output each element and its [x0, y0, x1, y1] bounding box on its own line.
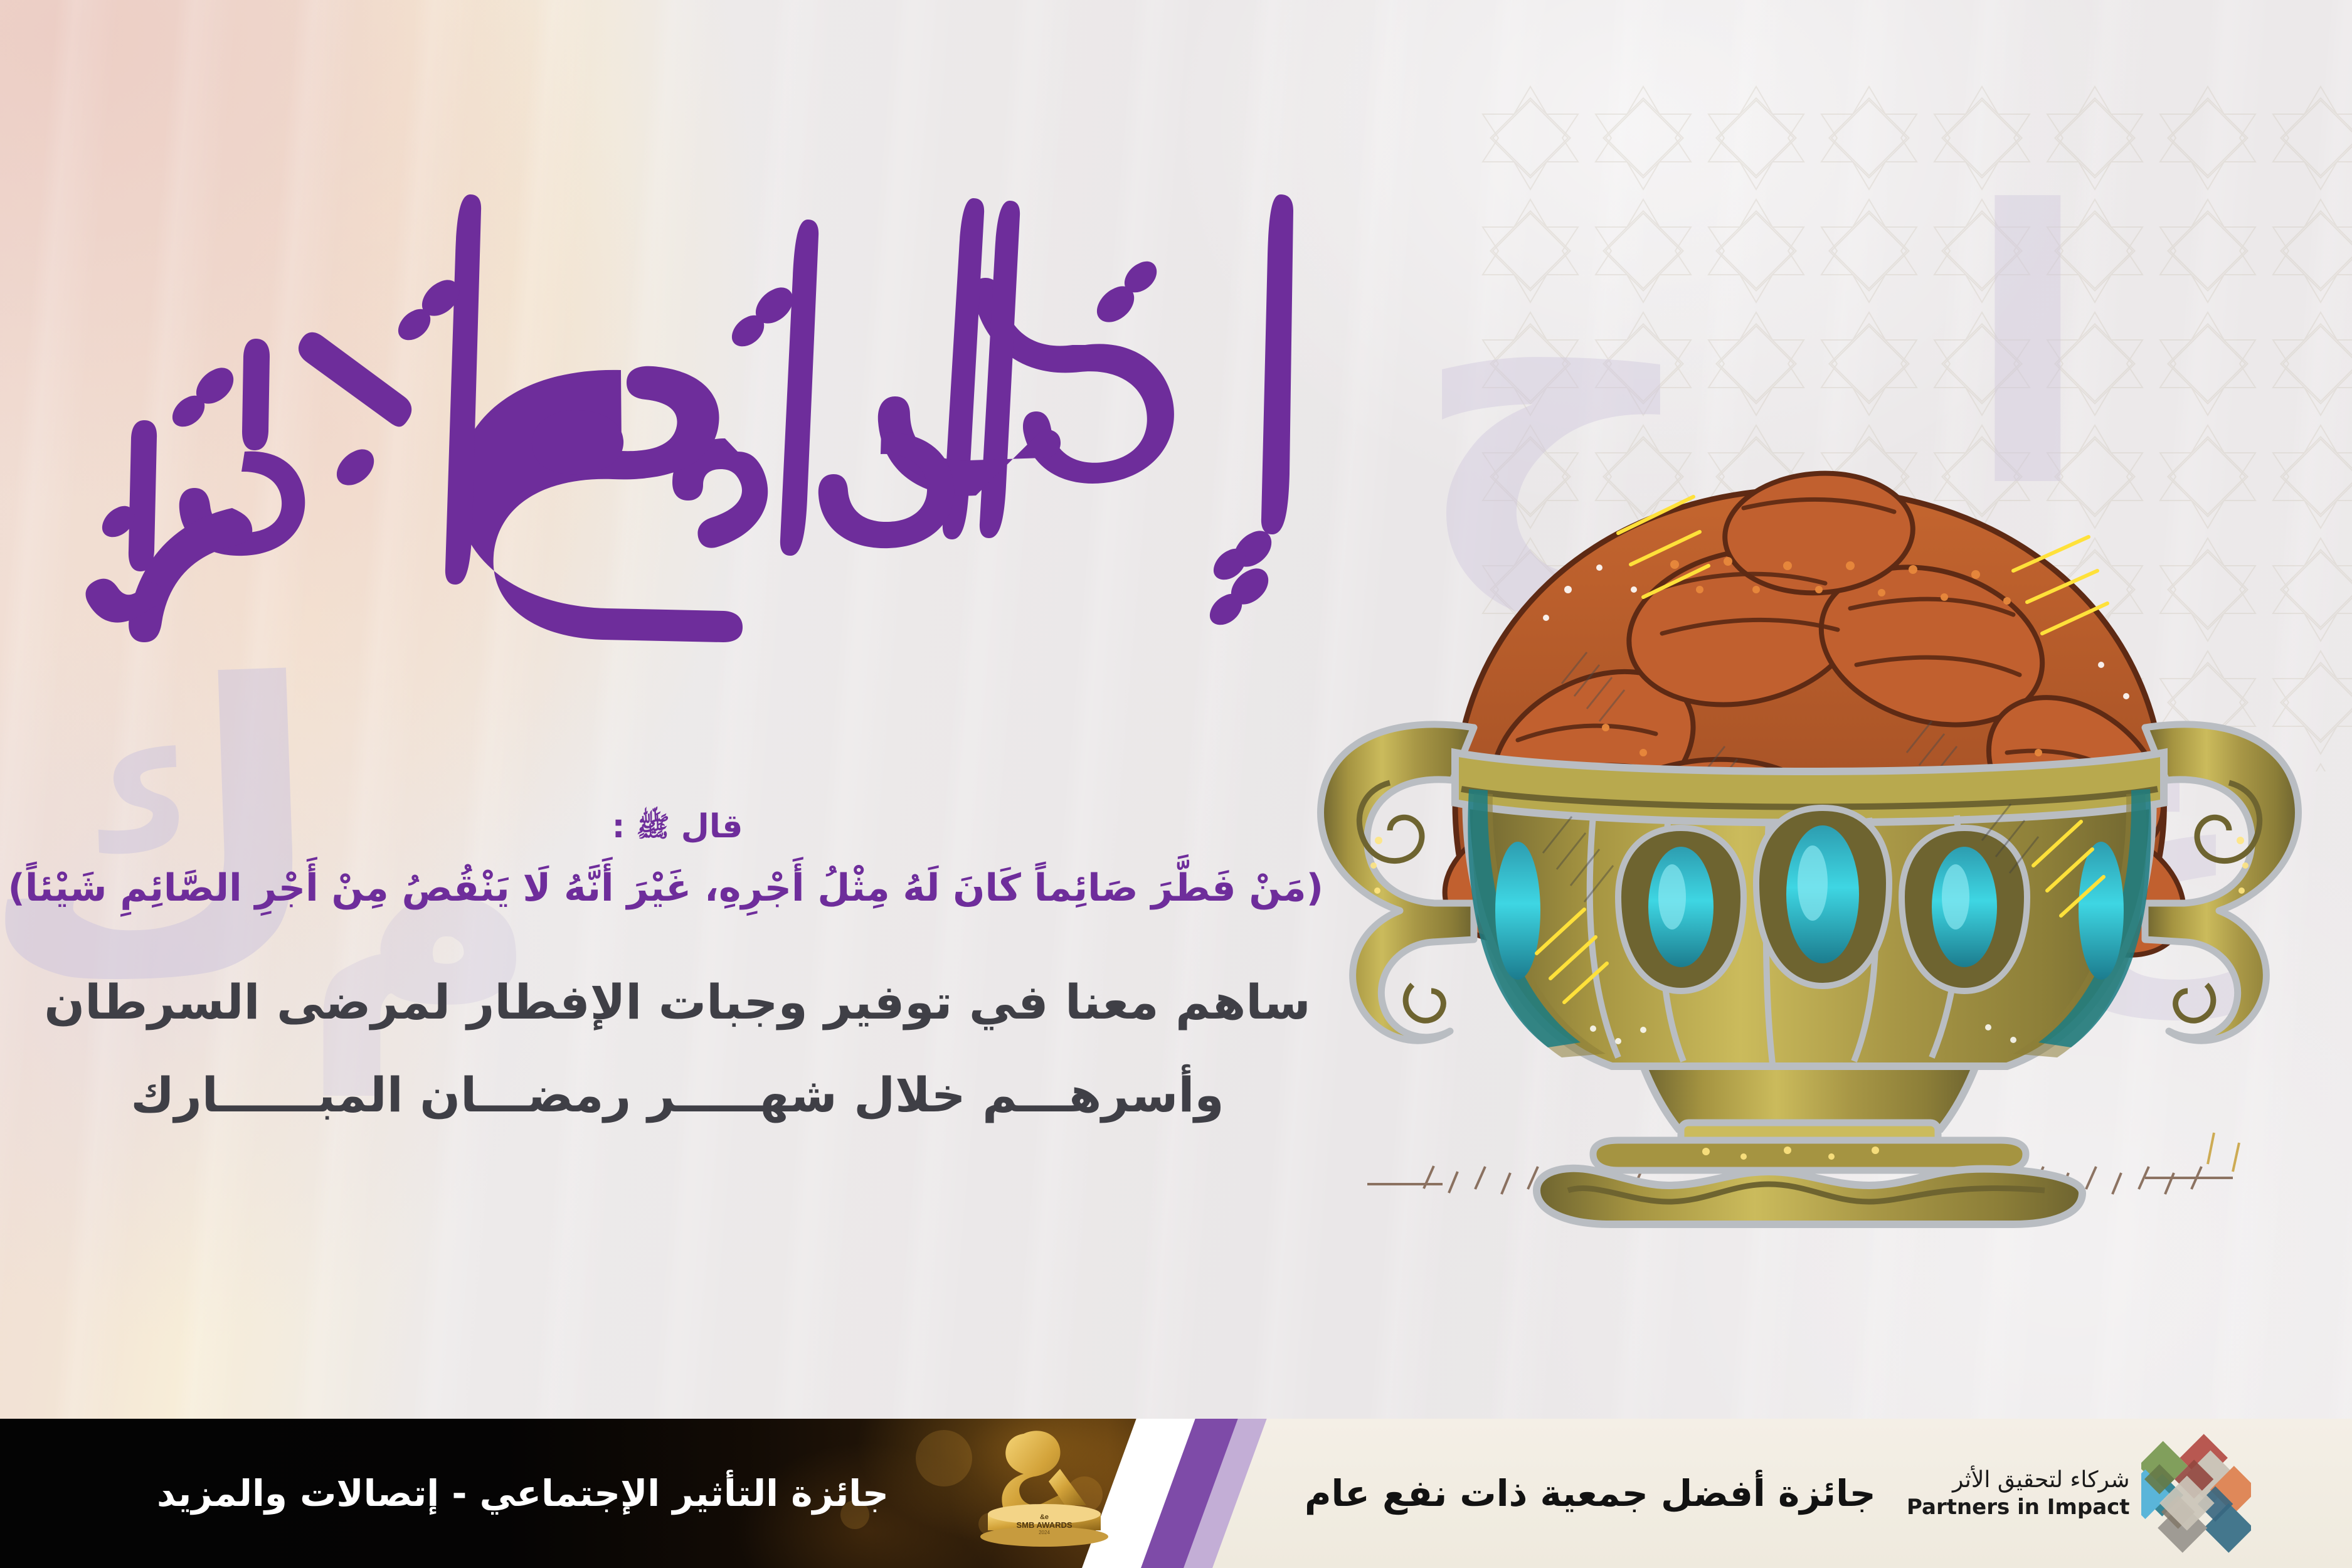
call-to-action-line-1: ساهم معنا في توفير وجبات الإفطار لمرضى ا… — [31, 968, 1323, 1037]
partners-in-impact-logo: شركاء لتحقيق الأثر Partners in Impact — [1907, 1434, 2251, 1553]
attribution-word: قال — [681, 808, 743, 845]
title-calligraphy-svg — [56, 157, 1361, 621]
bowl-gem-set — [1618, 808, 2027, 991]
footer-award-right-text: جائزة أفضل جمعية ذات نفع عام — [1305, 1472, 1876, 1515]
partners-logo-diamond-mark — [2141, 1434, 2251, 1553]
message-block: قال ﷺ : (مَنْ فَطَّرَ صَائِماً كَانَ لَه… — [31, 809, 1323, 1130]
sallallahu-alayhi-wasallam-glyph: ﷺ — [636, 811, 669, 843]
bokeh-dot — [916, 1430, 972, 1486]
bowl-gem-far-left — [1495, 842, 1540, 980]
bowl-gem-far-right — [2079, 842, 2124, 980]
trophy-bowl-of-dates-illustration — [1267, 401, 2352, 1292]
bowl-base — [1537, 1066, 2082, 1224]
partners-logo-arabic: شركاء لتحقيق الأثر — [1907, 1466, 2130, 1494]
bowl-cup — [1455, 753, 2164, 1066]
trophy-year-label: 2024 — [1039, 1530, 1050, 1535]
hadith-text: (مَنْ فَطَّرَ صَائِماً كَانَ لَهُ مِثْلُ… — [31, 860, 1323, 916]
call-to-action-line-2: وأسرهـــم خلال شهـــــر رمضـــان المبـــ… — [31, 1061, 1323, 1130]
partners-logo-text: شركاء لتحقيق الأثر Partners in Impact — [1907, 1466, 2130, 1521]
attribution-colon: : — [612, 808, 625, 845]
poster-title — [56, 157, 1361, 621]
footer-award-left-text: جائزة التأثير الإجتماعي - إتصالات والمزي… — [157, 1472, 889, 1515]
hadith-attribution: قال ﷺ : — [31, 809, 1323, 845]
partners-logo-english: Partners in Impact — [1907, 1494, 2130, 1521]
bowl-svg — [1267, 401, 2352, 1292]
poster-canvas: ك ح ا ع م — [0, 0, 2352, 1568]
poster-footer: e& SMB AWARDS 2024 جائزة التأثير الإجتما… — [0, 1419, 2352, 1568]
trophy-awards-label: SMB AWARDS — [1016, 1520, 1072, 1530]
smb-awards-trophy-icon: e& SMB AWARDS 2024 — [966, 1420, 1123, 1564]
